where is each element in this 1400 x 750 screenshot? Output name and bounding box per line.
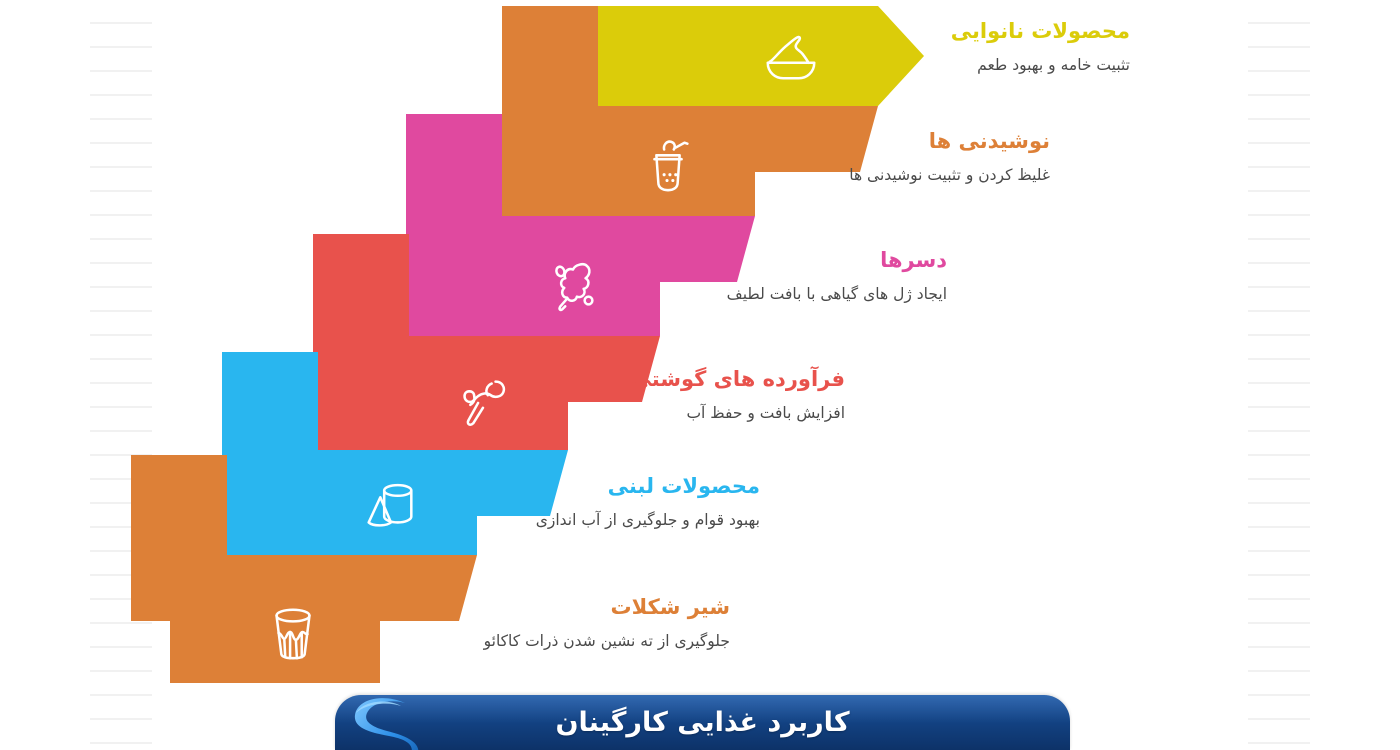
step-subtitle-bakery: تثبیت خامه و بهبود طعم <box>845 54 1130 77</box>
step-title-dairy: محصولات لبنی <box>485 473 760 500</box>
step-subtitle-desserts: ایجاد ژل های گیاهی با بافت لطیف <box>667 283 947 306</box>
milk-glass-icon <box>262 602 324 664</box>
ham-leg-icon <box>450 370 512 432</box>
step-title-meat: فرآورده های گوشتی <box>575 366 845 393</box>
right-rule-pattern <box>1248 0 1310 750</box>
infographic-canvas: محصولات نانواییتثبیت خامه و بهبود طعم نو… <box>0 0 1400 750</box>
step-subtitle-dairy: بهبود قوام و جلوگیری از آب اندازی <box>485 509 760 532</box>
step-text-desserts: دسرهاایجاد ژل های گیاهی با بافت لطیف <box>667 247 947 307</box>
whipped-cream-bowl-icon <box>760 25 822 87</box>
popsicle-icon <box>542 254 604 316</box>
step-text-bakery: محصولات نانواییتثبیت خامه و بهبود طعم <box>845 18 1130 78</box>
step-subtitle-meat: افزایش بافت و حفظ آب <box>575 402 845 425</box>
step-title-beverages: نوشیدنی ها <box>760 128 1050 155</box>
swirl-s-logo-icon <box>343 695 433 750</box>
step-subtitle-beverages: غلیظ کردن و تثبیت نوشیدنی ها <box>760 164 1050 187</box>
banner-title: کاربرد غذایی کارگینان <box>555 707 849 738</box>
step-text-dairy: محصولات لبنیبهبود قوام و جلوگیری از آب ا… <box>485 473 760 533</box>
step-text-meat: فرآورده های گوشتیافزایش بافت و حفظ آب <box>575 366 845 426</box>
step-title-chocolate-milk: شیر شکلات <box>455 594 730 621</box>
step-text-chocolate-milk: شیر شکلاتجلوگیری از ته نشین شدن ذرات کاک… <box>455 594 730 654</box>
bottom-title-banner: کاربرد غذایی کارگینان <box>335 695 1070 750</box>
step-shape-chocolate-milk <box>74 583 384 687</box>
step-title-desserts: دسرها <box>667 247 947 274</box>
bubble-tea-cup-icon <box>637 134 699 196</box>
step-subtitle-chocolate-milk: جلوگیری از ته نشین شدن ذرات کاکائو <box>455 630 730 653</box>
cylinder-cone-dairy-icon <box>359 474 421 536</box>
step-title-bakery: محصولات نانوایی <box>845 18 1130 45</box>
step-chocolate-milk[interactable] <box>74 583 384 691</box>
step-text-beverages: نوشیدنی هاغلیظ کردن و تثبیت نوشیدنی ها <box>760 128 1050 188</box>
